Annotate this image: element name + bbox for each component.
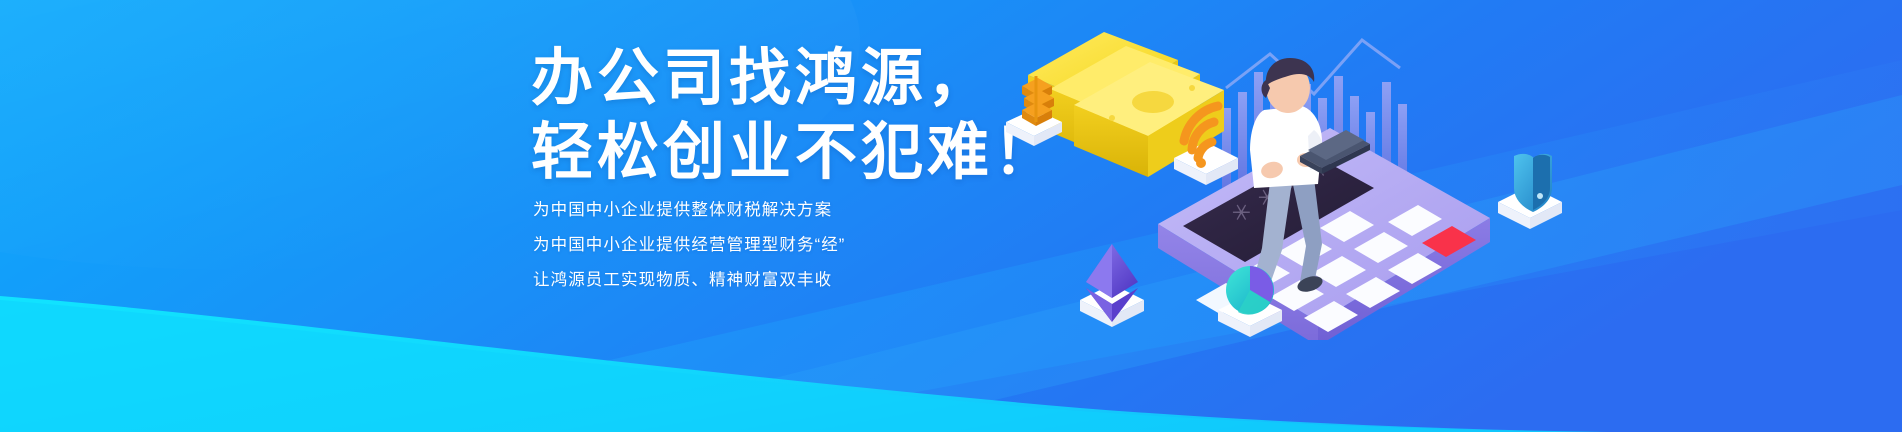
promo-banner: 办公司找鸿源， 轻松创业不犯难！ 为中国中小企业提供整体财税解决方案 为中国中小…: [0, 0, 1902, 432]
ethereum-crystal-icon: [1080, 244, 1144, 327]
subtitle-line-2: 为中国中小企业提供经营管理型财务“经”: [533, 236, 845, 255]
finance-illustration: ＊ ＊ ＊ ＊: [970, 10, 1610, 340]
subtitle-line-3: 让鸿源员工实现物质、精神财富双丰收: [533, 271, 832, 290]
banner-text-block: 办公司找鸿源， 轻松创业不犯难！ 为中国中小企业提供整体财税解决方案 为中国中小…: [0, 0, 1010, 432]
subtitle-line-1: 为中国中小企业提供整体财税解决方案: [533, 201, 832, 220]
headline-line-1: 办公司找鸿源，: [531, 48, 993, 110]
shield-icon: [1498, 154, 1562, 229]
